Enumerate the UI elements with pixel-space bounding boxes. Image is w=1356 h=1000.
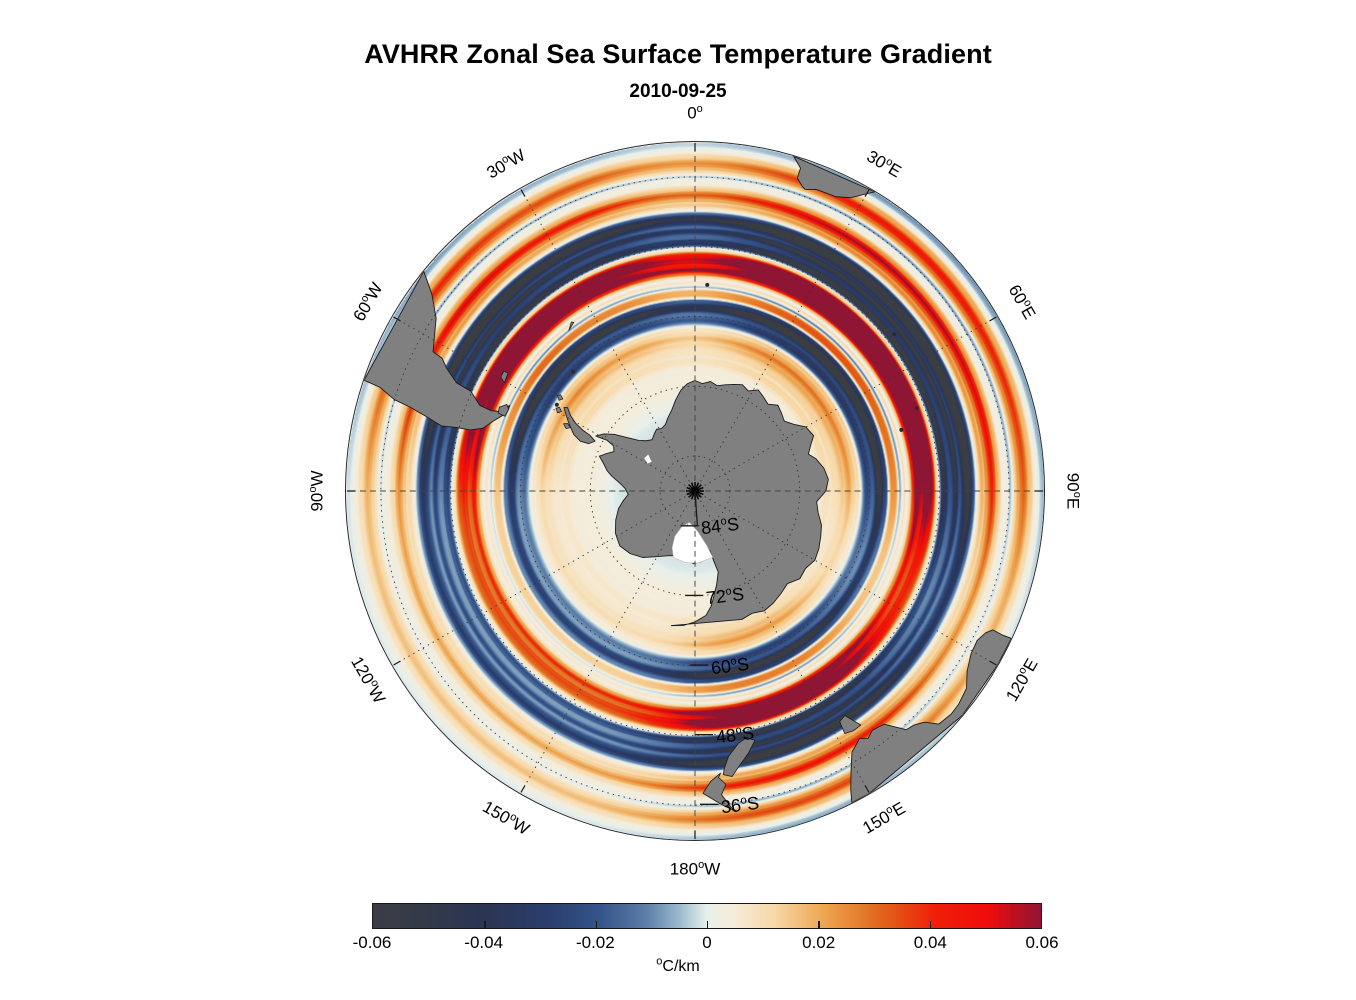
polar-map-disc <box>345 141 1045 841</box>
colorbar-tick-label: 0 <box>702 933 711 953</box>
colorbar-tick-label: -0.02 <box>576 933 615 953</box>
longitude-label-lon-90w: 90oW <box>308 470 327 511</box>
figure-subtitle-date: 2010-09-25 <box>0 81 1356 103</box>
colorbar-unit-label: oC/km <box>0 957 1356 976</box>
colorbar-tick <box>818 921 819 928</box>
colorbar-tick-label: 0.06 <box>1025 933 1058 953</box>
latitude-label-hemisphere: S <box>746 793 760 814</box>
title-block: AVHRR Zonal Sea Surface Temperature Grad… <box>0 38 1356 103</box>
longitude-label-hemisphere: W <box>308 470 327 486</box>
page-title: AVHRR Zonal Sea Surface Temperature Grad… <box>0 38 1356 70</box>
latitude-label-value: 48 <box>715 725 737 747</box>
degree-symbol: o <box>697 103 703 115</box>
longitude-label-hemisphere: W <box>704 860 720 879</box>
colorbar-tick <box>707 921 708 928</box>
longitude-label-lon-180w: 180oW <box>670 860 721 879</box>
longitude-label-lon-0: 0o <box>687 104 703 123</box>
longitude-label-hemisphere: E <box>1064 498 1083 509</box>
latitude-label-value: 36 <box>720 795 742 817</box>
colorbar-unit-text: C/km <box>662 958 699 975</box>
graticule-layer <box>346 142 1044 840</box>
longitude-label-lon-90e: 90oE <box>1064 473 1083 509</box>
colorbar-tick-label: -0.04 <box>464 933 503 953</box>
colorbar-tick-label: 0.04 <box>914 933 947 953</box>
colorbar-tick <box>596 921 597 928</box>
colorbar-tick <box>484 921 485 928</box>
latitude-label-value: 60 <box>710 656 732 678</box>
colorbar-tick <box>930 921 931 928</box>
polar-map-container: 0o30oE60oE90oE120oE150oE180oW150oW120oW9… <box>340 136 1050 848</box>
latitude-label-hemisphere: S <box>741 723 755 744</box>
colorbar-tick-label: 0.02 <box>802 933 835 953</box>
colorbar[interactable] <box>372 903 1042 929</box>
longitude-label-value: 90 <box>1064 473 1083 492</box>
longitude-label-value: 90 <box>308 493 327 512</box>
latitude-label-lat-60s: 60oS <box>710 654 750 678</box>
degree-symbol: o <box>307 487 319 493</box>
colorbar-tick-labels: -0.06-0.04-0.0200.020.040.06 <box>372 933 1042 957</box>
longitude-label-value: 180 <box>670 860 698 879</box>
figure-canvas: AVHRR Zonal Sea Surface Temperature Grad… <box>0 0 1356 1000</box>
colorbar-tick-label: -0.06 <box>353 933 392 953</box>
